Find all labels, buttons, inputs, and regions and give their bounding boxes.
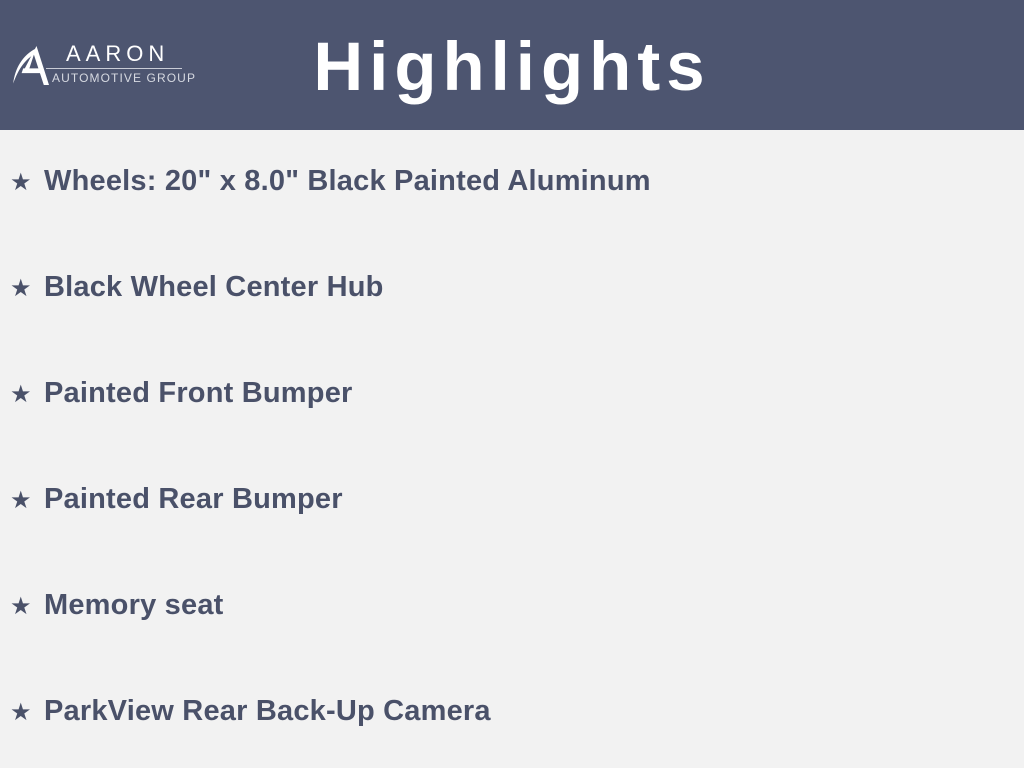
list-item: ★ Black Wheel Center Hub xyxy=(10,270,384,310)
highlights-list: ★ Wheels: 20" x 8.0" Black Painted Alumi… xyxy=(0,130,1024,768)
list-item: ★ Painted Rear Bumper xyxy=(10,482,343,522)
page-title: Highlights xyxy=(0,27,1024,107)
list-item: ★ Painted Front Bumper xyxy=(10,376,353,416)
list-item-label: Painted Front Bumper xyxy=(44,376,353,410)
star-icon: ★ xyxy=(10,590,44,624)
list-item-label: Painted Rear Bumper xyxy=(44,482,343,516)
list-item-label: ParkView Rear Back-Up Camera xyxy=(44,694,491,728)
star-icon: ★ xyxy=(10,484,44,518)
list-item-label: Black Wheel Center Hub xyxy=(44,270,384,304)
star-icon: ★ xyxy=(10,272,44,306)
list-item: ★ ParkView Rear Back-Up Camera xyxy=(10,694,491,734)
star-icon: ★ xyxy=(10,166,44,200)
list-item: ★ Wheels: 20" x 8.0" Black Painted Alumi… xyxy=(10,164,651,204)
star-icon: ★ xyxy=(10,696,44,730)
list-item-label: Memory seat xyxy=(44,588,224,622)
list-item-label: Wheels: 20" x 8.0" Black Painted Aluminu… xyxy=(44,164,651,198)
list-item: ★ Memory seat xyxy=(10,588,224,628)
slide-root: AARON AUTOMOTIVE GROUP Highlights ★ Whee… xyxy=(0,0,1024,768)
star-icon: ★ xyxy=(10,378,44,412)
